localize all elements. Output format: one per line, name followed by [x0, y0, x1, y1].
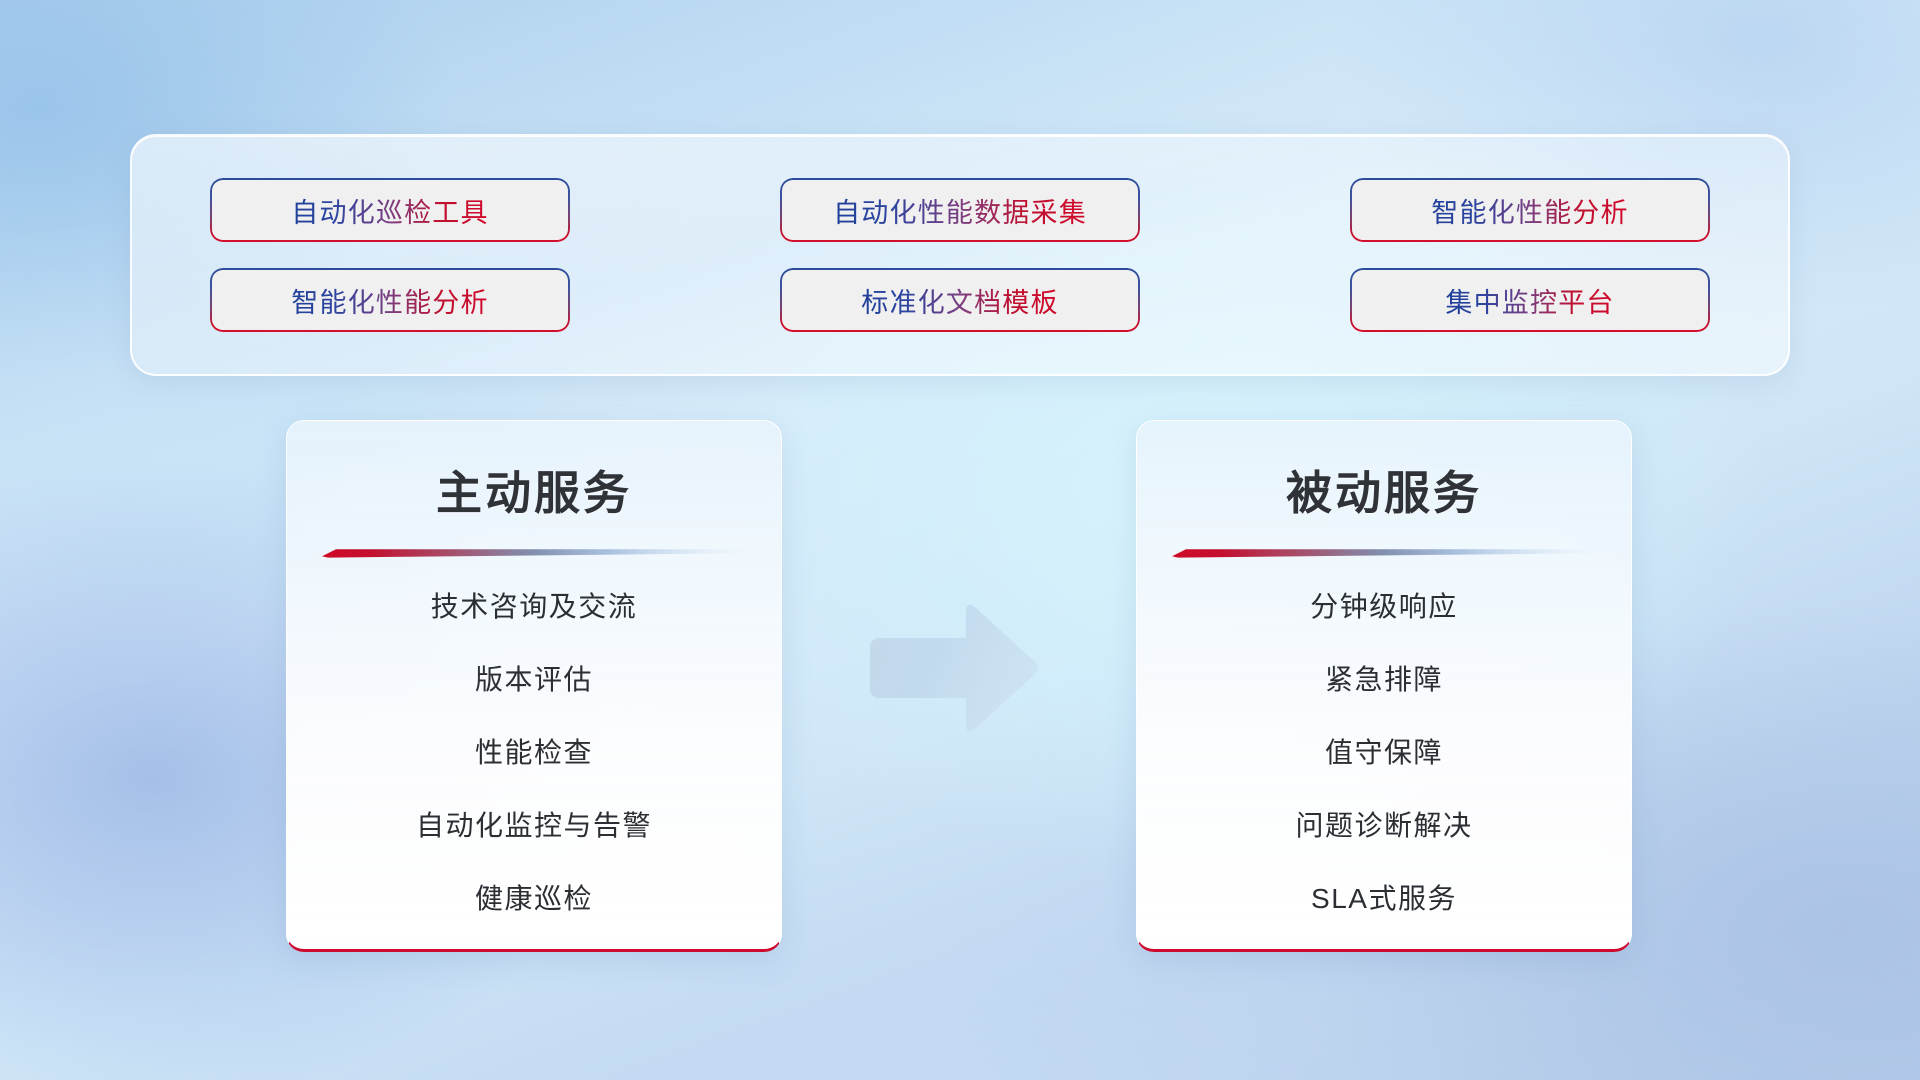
service-item: 问题诊断解决 — [1295, 812, 1472, 840]
capability-pill-label: 自动化巡检工具 — [291, 191, 488, 230]
capability-pill[interactable]: 自动化巡检工具 — [210, 178, 570, 242]
service-item: 版本评估 — [475, 666, 593, 694]
capability-row: 自动化巡检工具 自动化性能数据采集 智能化性能分析 — [160, 178, 1760, 242]
capability-pill-label: 智能化性能分析 — [291, 281, 488, 320]
service-item: 自动化监控与告警 — [416, 812, 652, 840]
service-card-proactive: 主动服务 技术咨询及交流 版本评估 性能检查 自动化监控与告警 健康巡检 — [286, 420, 782, 952]
service-item: 紧急排障 — [1325, 666, 1443, 694]
service-item: 性能检查 — [475, 739, 593, 767]
service-item-list: 分钟级响应 紧急排障 值守保障 问题诊断解决 SLA式服务 — [1137, 593, 1631, 913]
capability-pill[interactable]: 集中监控平台 — [1350, 268, 1710, 332]
capability-column: 自动化性能数据采集 — [730, 178, 1190, 242]
card-divider — [322, 545, 746, 559]
capability-pill[interactable]: 标准化文档模板 — [780, 268, 1140, 332]
card-divider — [1172, 545, 1596, 559]
capability-pill-label: 智能化性能分析 — [1431, 191, 1628, 230]
capability-column: 自动化巡检工具 — [160, 178, 620, 242]
capability-pill[interactable]: 智能化性能分析 — [210, 268, 570, 332]
service-item: 健康巡检 — [475, 885, 593, 913]
service-card-title: 被动服务 — [1286, 457, 1482, 523]
capability-row: 智能化性能分析 标准化文档模板 集中监控平台 — [160, 268, 1760, 332]
capability-pill-label: 自动化性能数据采集 — [833, 191, 1087, 230]
capability-column: 智能化性能分析 — [1300, 178, 1760, 242]
service-card-reactive: 被动服务 分钟级响应 紧急排障 值守保障 问题诊断解决 SLA式服务 — [1136, 420, 1632, 952]
capability-column: 标准化文档模板 — [730, 268, 1190, 332]
capability-panel: 自动化巡检工具 自动化性能数据采集 智能化性能分析 智能化性能分析 标准化文档模… — [130, 134, 1790, 376]
capability-column: 智能化性能分析 — [160, 268, 620, 332]
service-card-title: 主动服务 — [436, 457, 632, 523]
service-item: 值守保障 — [1325, 739, 1443, 767]
service-item: 分钟级响应 — [1310, 593, 1458, 621]
capability-pill-label: 集中监控平台 — [1445, 281, 1614, 320]
capability-pill[interactable]: 智能化性能分析 — [1350, 178, 1710, 242]
service-item: SLA式服务 — [1311, 885, 1457, 913]
service-item: 技术咨询及交流 — [431, 593, 638, 621]
arrow-right-icon — [862, 600, 1042, 750]
capability-pill[interactable]: 自动化性能数据采集 — [780, 178, 1140, 242]
service-item-list: 技术咨询及交流 版本评估 性能检查 自动化监控与告警 健康巡检 — [287, 593, 781, 913]
capability-column: 集中监控平台 — [1300, 268, 1760, 332]
capability-pill-label: 标准化文档模板 — [861, 281, 1058, 320]
